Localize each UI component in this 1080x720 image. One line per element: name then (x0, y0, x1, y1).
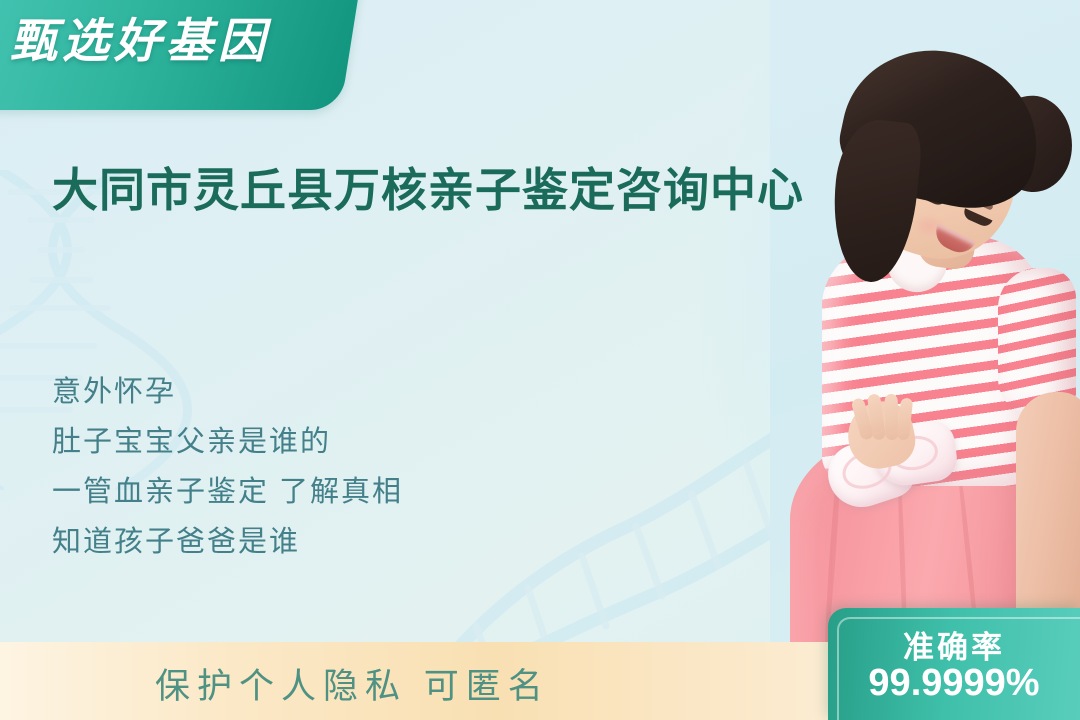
body-line-4: 知道孩子爸爸是谁 (52, 518, 672, 568)
body-copy: 意外怀孕 肚子宝宝父亲是谁的 一管血亲子鉴定 了解真相 知道孩子爸爸是谁 (52, 368, 672, 568)
arm (1016, 392, 1080, 642)
accuracy-badge: 准确率 99.9999% (828, 608, 1080, 720)
body-line-1: 意外怀孕 (52, 368, 672, 418)
brand-logo-text: 甄选好基因 (10, 2, 270, 71)
body-line-3: 一管血亲子鉴定 了解真相 (52, 468, 672, 518)
accuracy-badge-label: 准确率 (828, 622, 1080, 667)
privacy-banner-text: 保护个人隐私 可匿名 (155, 658, 550, 709)
poster-canvas: 甄选好基因 大同市灵丘县万核亲子鉴定咨询中心 意外怀孕 肚子宝宝父亲是谁的 一管… (0, 0, 1080, 720)
brand-logo-banner[interactable]: 甄选好基因 (0, 0, 360, 110)
page-title: 大同市灵丘县万核亲子鉴定咨询中心 (52, 160, 852, 221)
accuracy-badge-value: 99.9999% (828, 662, 1080, 705)
pregnant-woman-photo (770, 0, 1080, 668)
body-line-2: 肚子宝宝父亲是谁的 (52, 418, 672, 468)
finger (885, 394, 899, 440)
